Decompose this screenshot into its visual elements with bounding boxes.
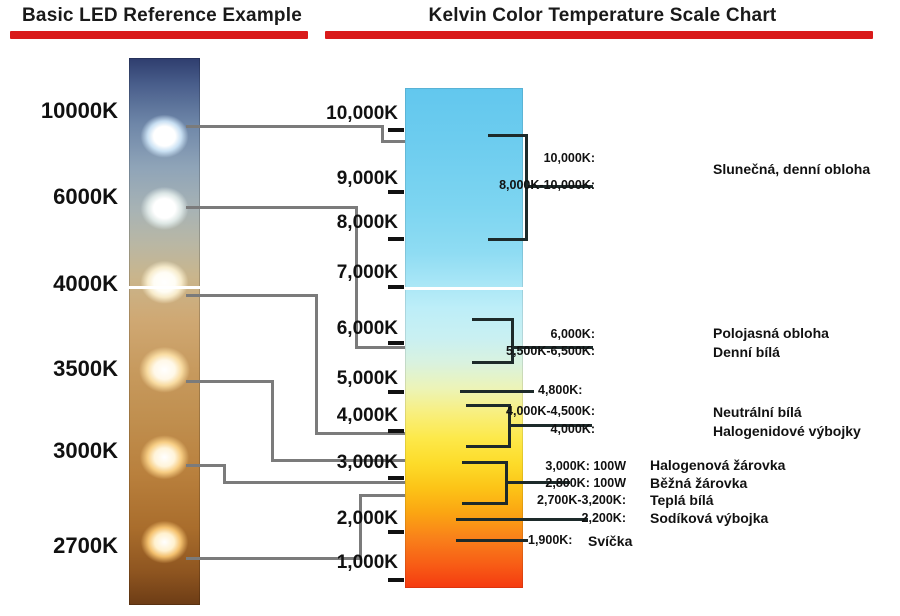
led-strip-photo bbox=[129, 58, 200, 605]
scale-label-5000k: 5,000K bbox=[308, 368, 398, 390]
tick-10000k bbox=[388, 128, 404, 132]
tick-8000k bbox=[388, 237, 404, 241]
scale-label-7000k: 7,000K bbox=[308, 262, 398, 284]
scale-label-3000k: 3,000K bbox=[308, 452, 398, 474]
annotation-kelvin-8000-10000k: 8,000K-10,000K: bbox=[470, 178, 595, 192]
bracket-daylightwhite-bottom bbox=[472, 361, 514, 364]
led-label-6000k: 6000K bbox=[8, 184, 118, 210]
bracket-daylight-bottom bbox=[488, 238, 528, 241]
annotation-kelvin-6000k: 6,000K: bbox=[470, 327, 595, 341]
tick-6000k bbox=[388, 341, 404, 345]
annotation-kelvin-4000-4500k: 4,000K-4,500K: bbox=[470, 404, 595, 418]
annotation-kelvin-5500-6500k: 5,500K-6,500K: bbox=[470, 344, 595, 358]
led-label-3500k: 3500K bbox=[8, 356, 118, 382]
tick-2000k bbox=[388, 530, 404, 534]
connector-3000k-seg3 bbox=[223, 481, 413, 484]
connector-6000k-seg1 bbox=[186, 206, 358, 209]
bracket-daylight-top bbox=[488, 134, 528, 137]
scale-label-1000k: 1,000K bbox=[308, 552, 398, 574]
bracket-warm-top bbox=[462, 461, 508, 464]
scale-label-4000k: 4,000K bbox=[308, 405, 398, 427]
tick-9000k bbox=[388, 190, 404, 194]
connector-10000k-seg1 bbox=[186, 125, 384, 128]
scale-label-2000k: 2,000K bbox=[308, 508, 398, 530]
connector-3000k-seg1 bbox=[186, 464, 226, 467]
tick-4000k bbox=[388, 429, 404, 433]
title-rule-left bbox=[10, 31, 308, 39]
page-title-right: Kelvin Color Temperature Scale Chart bbox=[330, 5, 875, 27]
annotation-desc-daylight-white: Denní bílá bbox=[713, 344, 780, 360]
annotation-desc-common-bulb: Běžná žárovka bbox=[650, 475, 747, 491]
annotation-kelvin-10000k: 10,000K: bbox=[470, 151, 595, 165]
kelvin-color-temperature-infographic: Basic LED Reference Example Kelvin Color… bbox=[0, 0, 900, 616]
tick-5000k bbox=[388, 390, 404, 394]
kelvin-bar-seam bbox=[405, 287, 523, 290]
led-strip-seam bbox=[129, 286, 200, 289]
tick-1000k bbox=[388, 578, 404, 582]
bracket-neutral-bottom bbox=[466, 445, 511, 448]
annotation-kelvin-4000k: 4,000K: bbox=[470, 422, 595, 436]
annotation-kelvin-2700-3200k: 2,700K-3,200K: bbox=[510, 493, 626, 507]
annotation-desc-neutral-white: Neutrální bílá bbox=[713, 404, 802, 420]
annotation-desc-sodium-lamp: Sodíková výbojka bbox=[650, 510, 768, 526]
scale-label-8000k: 8,000K bbox=[308, 212, 398, 234]
led-label-10000k: 10000K bbox=[8, 98, 118, 124]
annotation-desc-candle: Svíčka bbox=[588, 533, 632, 549]
leader-1900k bbox=[456, 539, 528, 542]
page-title-left: Basic LED Reference Example bbox=[12, 5, 312, 27]
connector-3500k-seg1 bbox=[186, 380, 274, 383]
scale-label-9000k: 9,000K bbox=[308, 168, 398, 190]
title-rule-right bbox=[325, 31, 873, 39]
connector-3500k-seg2 bbox=[271, 380, 274, 462]
annotation-kelvin-4800k: 4,800K: bbox=[538, 383, 663, 397]
led-label-2700k: 2700K bbox=[8, 533, 118, 559]
bracket-warm-bottom bbox=[462, 502, 508, 505]
annotation-desc-partly-cloudy: Polojasná obloha bbox=[713, 325, 829, 341]
tick-7000k bbox=[388, 285, 404, 289]
annotation-kelvin-3000k: 3,000K: 100W bbox=[510, 459, 626, 473]
annotation-desc-metal-halide: Halogenidové výbojky bbox=[713, 423, 861, 439]
led-label-3000k: 3000K bbox=[8, 438, 118, 464]
leader-4800k bbox=[460, 390, 534, 393]
annotation-desc-halogen-bulb: Halogenová žárovka bbox=[650, 457, 785, 473]
annotation-kelvin-2800k: 2,800K: 100W bbox=[510, 476, 626, 490]
connector-4000k-seg1 bbox=[186, 294, 318, 297]
bracket-daylightwhite-top bbox=[472, 318, 514, 321]
annotation-desc-warm-white: Teplá bílá bbox=[650, 492, 714, 508]
led-label-4000k: 4000K bbox=[8, 271, 118, 297]
tick-3000k bbox=[388, 476, 404, 480]
annotation-desc-sunny-sky: Slunečná, denní obloha bbox=[713, 161, 870, 177]
scale-label-6000k: 6,000K bbox=[308, 318, 398, 340]
scale-label-10000k: 10,000K bbox=[308, 103, 398, 125]
annotation-kelvin-2200k: 2,200K: bbox=[510, 511, 626, 525]
